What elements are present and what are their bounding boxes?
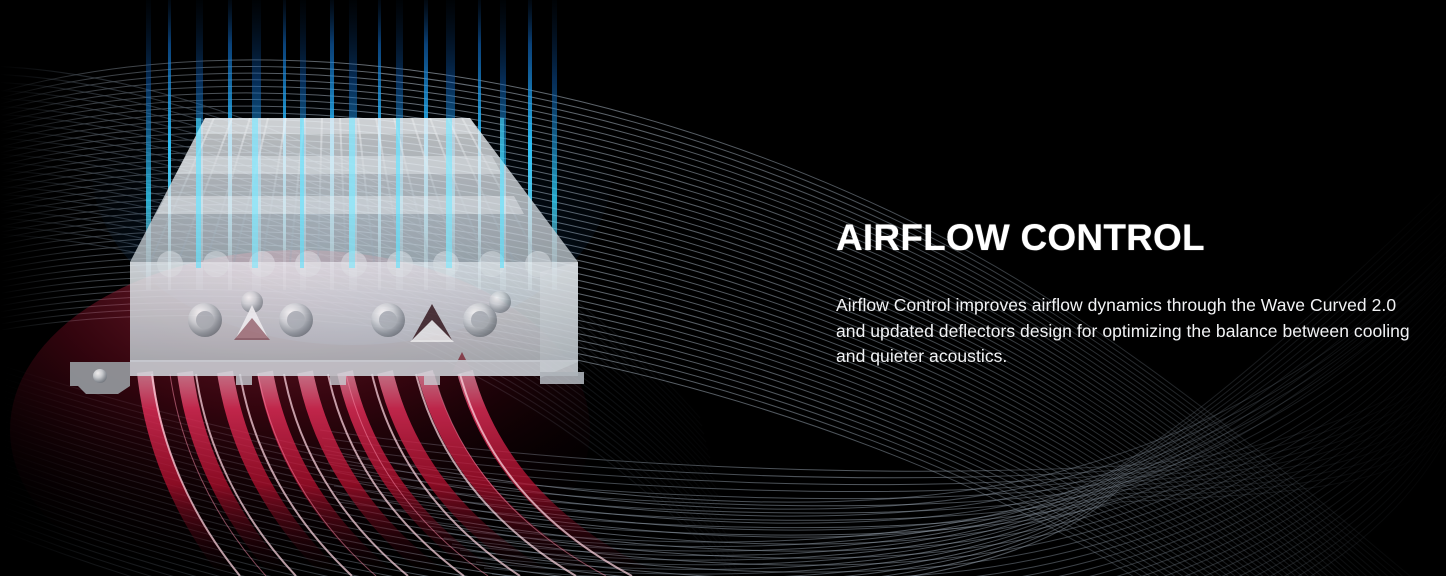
wave-ribbon-dark-left xyxy=(0,66,742,576)
heatsink-body xyxy=(70,118,584,394)
body-description: Airflow Control improves airflow dynamic… xyxy=(836,260,1418,370)
copy-block: AIRFLOW CONTROL Airflow Control improves… xyxy=(836,216,1426,370)
cool-air-intake-flow xyxy=(92,0,612,345)
page-title: AIRFLOW CONTROL xyxy=(836,216,1426,260)
deflector-triangle xyxy=(234,304,472,372)
hot-air-exhaust-flow xyxy=(10,250,646,576)
mounting-bracket xyxy=(70,362,130,394)
heatsink-boss xyxy=(188,291,511,337)
airflow-control-banner: AIRFLOW CONTROL Airflow Control improves… xyxy=(0,0,1446,576)
heatsink-product-image xyxy=(0,0,660,576)
cool-air-overlay-streams xyxy=(196,118,504,268)
